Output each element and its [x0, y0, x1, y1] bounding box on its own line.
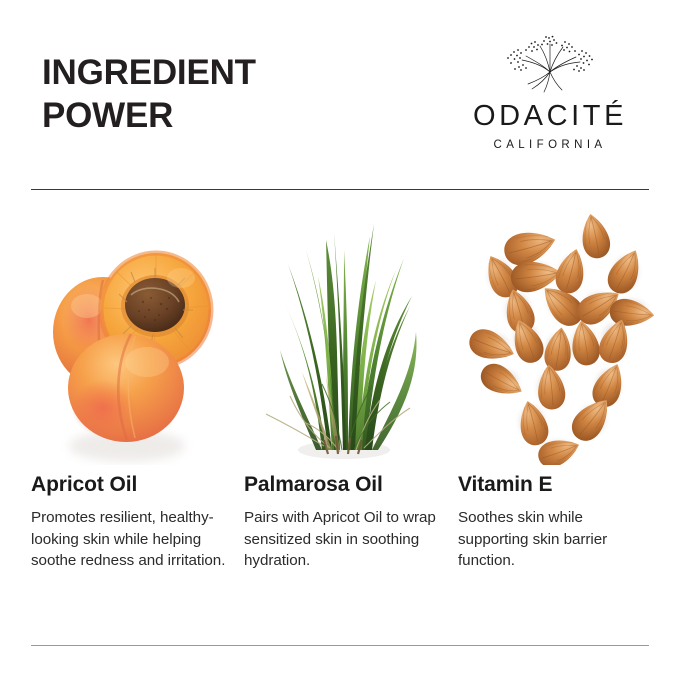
almonds-photo: [458, 210, 658, 465]
apricot-fruit-photo: [31, 210, 231, 465]
brand-location: CALIFORNIA: [452, 140, 648, 152]
ingredient-power-infographic: INGREDIENT POWER: [0, 0, 679, 679]
header: INGREDIENT POWER: [0, 0, 679, 189]
ingredient-card-apricot-oil: Apricot Oil Promotes resilient, healthy-…: [31, 210, 231, 630]
brand-logo: ODACITÉ CALIFORNIA: [452, 32, 648, 152]
dill-umbel-flower-icon: [490, 32, 610, 94]
brand-name: ODACITÉ: [452, 102, 648, 131]
ingredient-description: Promotes resilient, healthy-looking skin…: [31, 507, 227, 572]
ingredient-name: Vitamin E: [458, 473, 658, 496]
ingredient-columns: Apricot Oil Promotes resilient, healthy-…: [0, 210, 679, 630]
palmarosa-grass-photo: [244, 210, 444, 465]
page-title-line-2: POWER: [42, 95, 342, 138]
divider-top: [31, 189, 649, 190]
page-title: INGREDIENT POWER: [42, 52, 342, 137]
divider-bottom: [31, 645, 649, 646]
ingredient-description: Soothes skin while supporting skin barri…: [458, 507, 628, 572]
ingredient-name: Apricot Oil: [31, 473, 231, 496]
ingredient-card-vitamin-e: Vitamin E Soothes skin while supporting …: [458, 210, 658, 630]
page-title-line-1: INGREDIENT: [42, 53, 256, 92]
ingredient-card-palmarosa-oil: Palmarosa Oil Pairs with Apricot Oil to …: [244, 210, 444, 630]
ingredient-description: Pairs with Apricot Oil to wrap sensitize…: [244, 507, 440, 572]
ingredient-name: Palmarosa Oil: [244, 473, 444, 496]
